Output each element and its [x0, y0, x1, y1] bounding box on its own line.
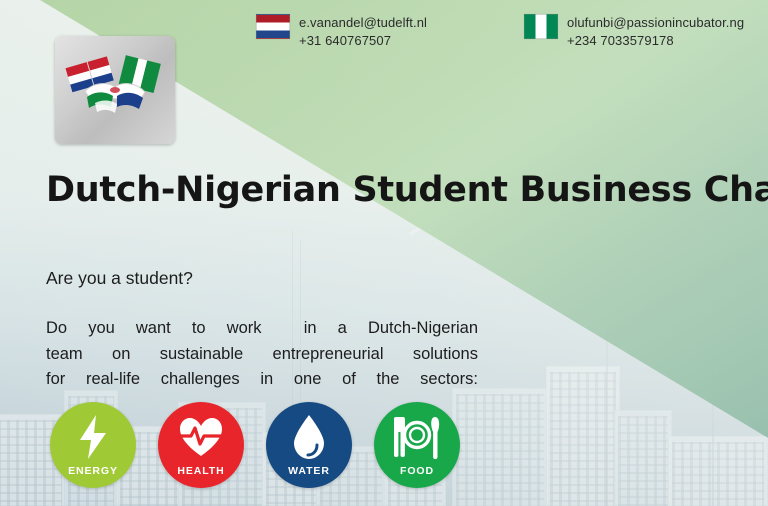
contact-phone[interactable]: +234 7033579178 — [567, 32, 744, 50]
body-word: you — [88, 316, 115, 342]
sector-label: ENERGY — [50, 465, 136, 477]
body-word: one — [294, 367, 322, 393]
body-word: work — [227, 316, 262, 342]
body-line: teamonsustainableentrepreneurialsolution… — [46, 342, 478, 368]
body-word: Dutch-Nigerian — [368, 316, 478, 342]
page-title: Dutch-Nigerian Student Business Challeng… — [46, 170, 768, 210]
sector-health[interactable]: HEALTH — [158, 402, 244, 488]
body-word: team — [46, 342, 83, 368]
body-word: want — [136, 316, 171, 342]
body-paragraph: DoyouwanttoworkinaDutch-Nigerian teamons… — [46, 316, 478, 393]
contact-netherlands: e.vanandel@tudelft.nl +31 640767507 — [256, 14, 427, 50]
body-word: entrepreneurial — [273, 342, 384, 368]
sector-food[interactable]: FOOD — [374, 402, 460, 488]
body-word: challenges — [161, 367, 240, 393]
body-word: real-life — [86, 367, 140, 393]
body-word: in — [260, 367, 273, 393]
handshake-icon — [63, 47, 167, 133]
sector-label: HEALTH — [158, 465, 244, 477]
sector-energy[interactable]: ENERGY — [50, 402, 136, 488]
heart-pulse-icon — [178, 416, 224, 463]
body-word: sectors: — [420, 367, 478, 393]
body-word: to — [192, 316, 206, 342]
cutlery-plate-icon — [391, 415, 443, 464]
sector-icon-row: ENERGY HEALTH WATER — [50, 402, 460, 488]
body-word: of — [342, 367, 356, 393]
intro-question: Are you a student? — [46, 268, 193, 289]
body-word: Do — [46, 316, 67, 342]
sector-label: FOOD — [374, 465, 460, 477]
nigeria-flag-icon — [524, 14, 558, 39]
contact-nigeria: olufunbi@passionincubator.ng +234 703357… — [524, 14, 744, 50]
body-word: in — [304, 316, 317, 342]
body-word: a — [338, 316, 347, 342]
body-word: the — [377, 367, 400, 393]
body-word: solutions — [413, 342, 478, 368]
sector-water[interactable]: WATER — [266, 402, 352, 488]
contact-email[interactable]: olufunbi@passionincubator.ng — [567, 14, 744, 32]
handshake-logo-badge — [55, 36, 175, 144]
netherlands-flag-icon — [256, 14, 290, 39]
body-word: on — [112, 342, 130, 368]
poster-canvas: e.vanandel@tudelft.nl +31 640767507 oluf… — [0, 0, 768, 506]
body-word: for — [46, 367, 65, 393]
body-line: DoyouwanttoworkinaDutch-Nigerian — [46, 316, 478, 342]
contact-email[interactable]: e.vanandel@tudelft.nl — [299, 14, 427, 32]
water-drop-icon — [291, 414, 327, 465]
lightning-bolt-icon — [76, 414, 110, 465]
sector-label: WATER — [266, 465, 352, 477]
contact-phone[interactable]: +31 640767507 — [299, 32, 427, 50]
body-line: forreal-lifechallengesinoneofthesectors: — [46, 367, 478, 393]
body-word: sustainable — [160, 342, 243, 368]
